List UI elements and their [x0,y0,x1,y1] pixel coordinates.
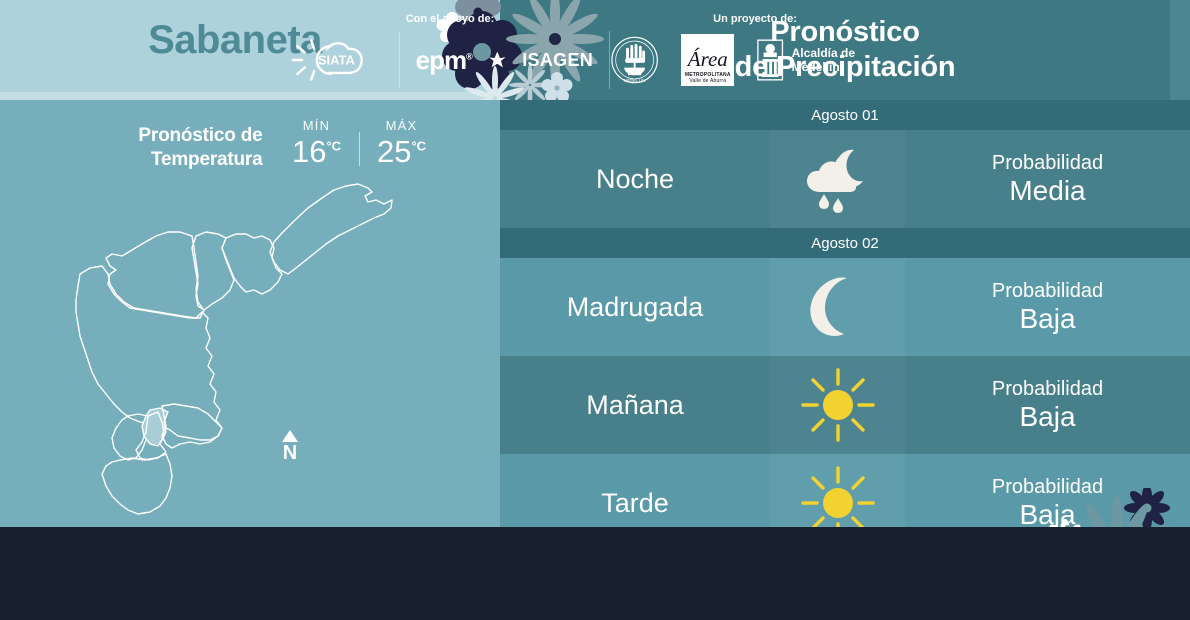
map-municipality-copacabana [192,232,234,310]
temperature-min-caption: MÍN [281,118,353,133]
table-row: Madrugada Probabilidad Baja [500,258,1190,356]
temperature-min-value: 16°C [281,136,353,167]
probability-cell: Probabilidad Baja [905,356,1190,454]
isagen-logo-text[interactable]: ISAGEN [522,50,593,71]
map-municipality-bello [106,232,204,318]
temperature-values: MÍN 16°C MÁX 25°C [281,118,438,167]
temperature-max: MÁX 25°C [366,118,438,167]
footer-support-logos: SIATA epm® ISAGEN [290,30,610,90]
north-arrow: N [275,430,305,463]
area-logo-sub2: Valle de Aburrá [689,78,726,84]
temperature-min: MÍN 16°C [281,118,353,167]
alcaldia-medellin-logo[interactable]: Alcaldía de Medellín [756,37,900,83]
epm-logo[interactable]: epm® [416,45,472,76]
table-row: Mañana Probabili [500,356,1190,454]
area-metropolitana-logo[interactable]: Área METROPOLITANA Valle de Aburrá [681,34,734,86]
footer-project-group: Un proyecto de: [610,0,900,93]
probability-word: Probabilidad [992,152,1103,174]
footer-support-group: Con el apoyo de: SIATA e [290,0,610,93]
north-arrow-icon [282,430,298,442]
map-municipality-barbosa [270,184,392,274]
sun-icon [800,367,876,443]
footer [0,527,1190,620]
weather-icon-cell [770,258,905,356]
temperature-min-number: 16 [292,134,326,169]
temperature-max-value: 25°C [366,136,438,167]
precipitation-forecast-table: Agosto 01 Noche Probabilidad Media Agost… [500,100,1190,527]
alcaldia-crest-icon [756,37,784,83]
siata-logo-text: SIATA [318,53,356,68]
temperature-max-unit: °C [411,139,426,154]
sun-disc [823,390,853,420]
footer-content: Con el apoyo de: SIATA e [0,0,1190,93]
moon-icon [803,272,873,342]
moon-shape [810,277,847,335]
period-label: Mañana [500,356,770,454]
universidad-nacional-seal-icon[interactable]: MEDELLÍN [610,34,659,86]
valle-de-aburra-map [50,178,430,518]
map-municipality-caldas [102,454,172,514]
map-panel: Pronóstico de Temperatura MÍN 16°C MÁX 2… [0,100,500,527]
temperature-label: Pronóstico de Temperatura [63,118,263,173]
probability-word: Probabilidad [992,280,1103,302]
probability-word: Probabilidad [992,476,1103,498]
header-left-edge [0,92,500,100]
date-header-1-label: Agosto 01 [811,107,879,124]
weather-icon-cell [770,130,905,228]
temperature-label-line2: Temperatura [63,148,263,172]
footer-project-logos: MEDELLÍN Área METROPOLITANA Valle de Abu… [610,30,900,90]
raindrop-1 [819,194,829,209]
probability-cell: Probabilidad Media [905,130,1190,228]
temperature-max-caption: MÁX [366,118,438,133]
epm-logo-text: epm [416,45,466,75]
map-municipality-envigado [162,404,222,448]
date-header-2: Agosto 02 [500,228,1190,258]
isagen-logo-icon [488,50,507,70]
probability-value: Baja [1019,303,1075,334]
table-row: Noche Probabilidad Media [500,130,1190,228]
date-header-1: Agosto 01 [500,100,1190,130]
temperature-min-unit: °C [326,139,341,154]
temperature-divider [359,132,360,166]
siata-logo-icon[interactable]: SIATA [290,36,383,84]
footer-support-caption: Con el apoyo de: [290,13,610,25]
temperature-max-number: 25 [377,134,411,169]
moon-rain-icon [798,144,878,214]
date-header-2-label: Agosto 02 [811,235,879,252]
footer-divider-1 [399,31,400,89]
north-arrow-label: N [275,443,305,463]
epm-registered-mark: ® [466,51,472,61]
raindrop-2 [833,198,843,213]
weather-icon-cell [770,356,905,454]
period-label: Madrugada [500,258,770,356]
weather-infographic: Sabaneta Pronóstico de Precipitación [0,0,1190,620]
area-logo-script: Área [688,49,728,70]
temperature-label-line1: Pronóstico de [63,124,263,148]
period-label: Noche [500,130,770,228]
probability-word: Probabilidad [992,378,1103,400]
alcaldia-label: Alcaldía de Medellín [792,46,900,74]
probability-value: Media [1009,175,1085,206]
footer-project-caption: Un proyecto de: [610,13,900,25]
sun-disc [823,488,853,518]
probability-cell: Probabilidad Baja [905,258,1190,356]
unal-seal-label: MEDELLÍN [624,78,645,83]
probability-value: Baja [1019,499,1075,530]
probability-value: Baja [1019,401,1075,432]
